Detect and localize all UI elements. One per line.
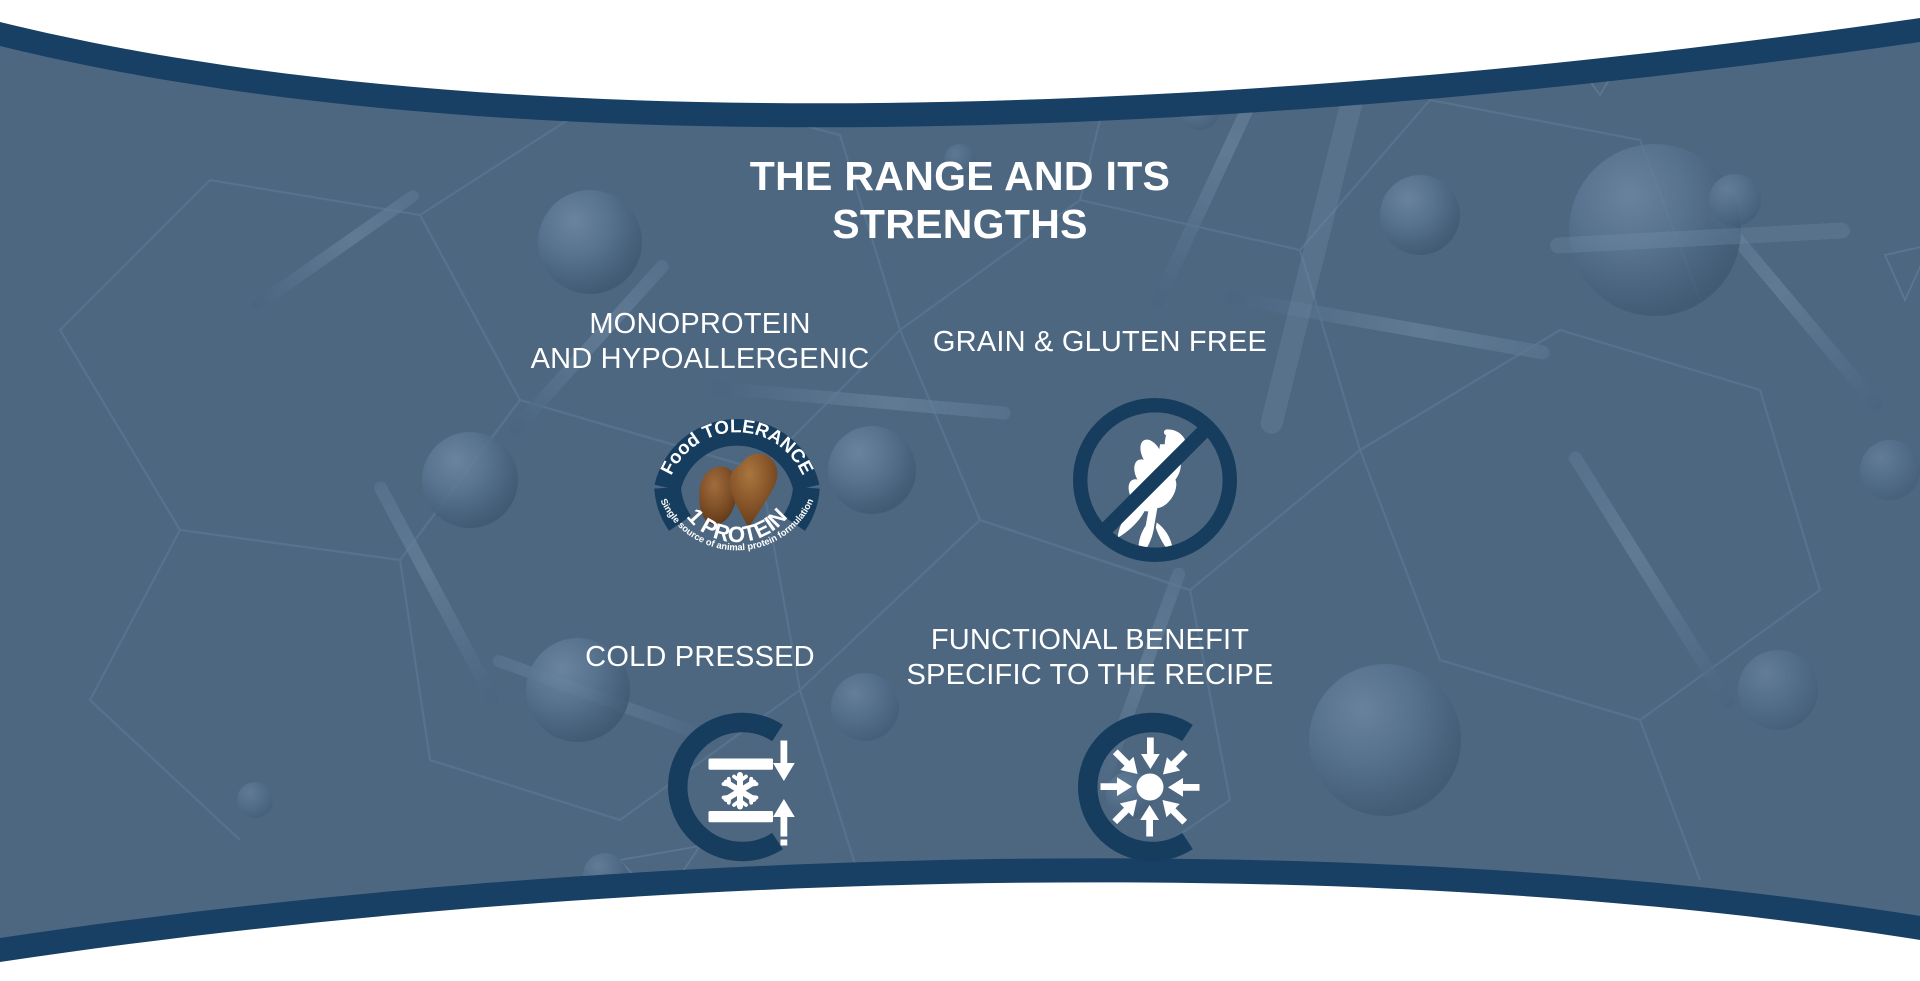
feature-label-grain-gluten-free: GRAIN & GLUTEN FREE: [880, 325, 1320, 360]
food-tolerance-badge-icon: Food TOLERANCE 1 PROTEIN Single source o…: [648, 388, 826, 566]
cold-pressed-snowflake-icon: [665, 712, 815, 862]
feature-label-monoprotein: MONOPROTEIN AND HYPOALLERGENIC: [480, 307, 920, 377]
feature-label-cold-pressed: COLD PRESSED: [520, 640, 880, 675]
infographic-banner: THE RANGE AND ITS STRENGTHS MONOPROTEIN …: [0, 0, 1920, 981]
page-title: THE RANGE AND ITS STRENGTHS: [0, 152, 1920, 249]
converging-arrows-icon: [1075, 712, 1225, 862]
no-wheat-icon: [1070, 395, 1240, 565]
feature-label-functional-benefit: FUNCTIONAL BENEFIT SPECIFIC TO THE RECIP…: [860, 623, 1320, 693]
